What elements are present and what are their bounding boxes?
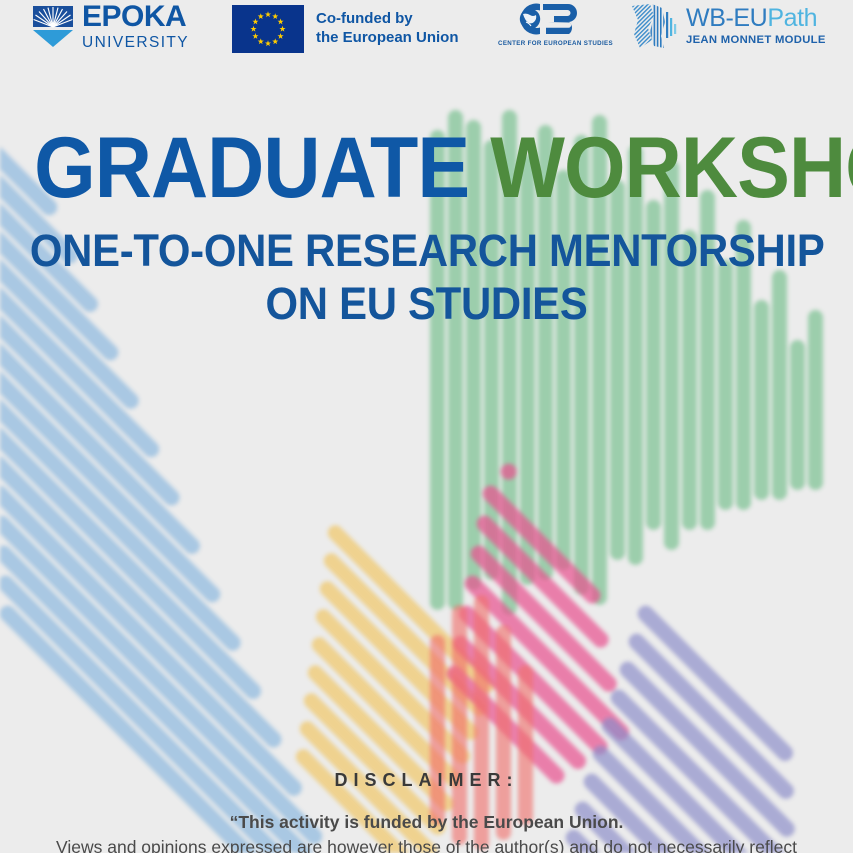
subtitle-line-1: ONE-TO-ONE RESEARCH MENTORSHIP — [30, 224, 823, 277]
pink-diagonal-stripes — [455, 480, 785, 810]
partner-logo-bar: EPOKA UNIVERSITY Co-funded by the Europe… — [0, 0, 853, 58]
page-subtitle: ONE-TO-ONE RESEARCH MENTORSHIP ON EU STU… — [30, 224, 823, 330]
center-for-european-studies-logo: CENTER FOR EUROPEAN STUDIES — [498, 1, 613, 47]
epoka-wordmark-primary: EPOKA — [82, 2, 189, 32]
page-title: GRADUATE WORKSHOP — [34, 126, 819, 210]
ces-subtitle: CENTER FOR EUROPEAN STUDIES — [498, 40, 613, 47]
subtitle-line-2: ON EU STUDIES — [30, 277, 823, 330]
eu-logo-line1: Co-funded by — [316, 10, 459, 29]
eu-logo-line2: the European Union — [316, 29, 459, 48]
wb-eupath-logo: WB-EUPath JEAN MONNET MODULE — [628, 2, 826, 50]
poster-canvas: EPOKA UNIVERSITY Co-funded by the Europe… — [0, 0, 853, 853]
wb-eupath-map-icon — [628, 2, 680, 50]
ces-globe-monogram-icon — [510, 1, 602, 37]
disclaimer-line-2: Views and opinions expressed are however… — [0, 835, 853, 853]
wb-eupath-wordmark-part2: Path — [767, 4, 817, 32]
disclaimer-body: “This activity is funded by the European… — [0, 810, 853, 853]
wb-eupath-subtitle: JEAN MONNET MODULE — [686, 35, 826, 46]
wb-eupath-wordmark-part1: WB-EU — [686, 4, 767, 32]
headline-block: GRADUATE WORKSHOP ONE-TO-ONE RESEARCH ME… — [0, 126, 853, 330]
epoka-wordmark-secondary: UNIVERSITY — [82, 35, 189, 51]
title-word-graduate: GRADUATE — [34, 120, 469, 216]
title-word-workshop: WORKSHOP — [490, 120, 853, 216]
epoka-university-logo: EPOKA UNIVERSITY — [30, 2, 189, 51]
disclaimer-block: DISCLAIMER: “This activity is funded by … — [0, 770, 853, 853]
co-funded-by-eu-logo: Co-funded by the European Union — [232, 5, 459, 53]
disclaimer-heading: DISCLAIMER: — [0, 770, 853, 791]
disclaimer-line-1: “This activity is funded by the European… — [0, 810, 853, 835]
epoka-shield-icon — [30, 3, 76, 49]
european-union-flag-icon — [232, 5, 304, 53]
